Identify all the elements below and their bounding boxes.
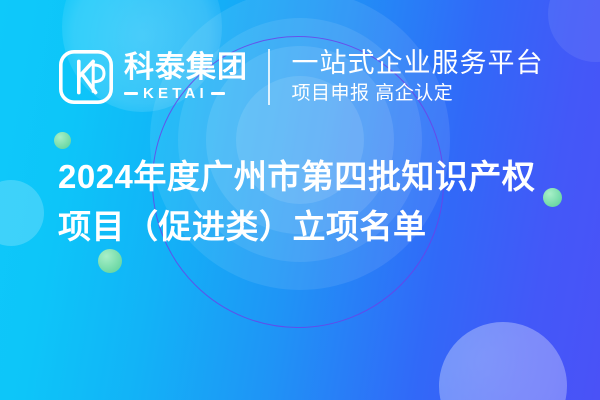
logo-cn-name: 科泰集团 — [124, 53, 248, 84]
ketai-monogram-logo-icon — [56, 47, 116, 107]
banner-header: 科泰集团 KETAI 一站式企业服务平台 项目申报 高企认定 — [56, 42, 544, 112]
left-edge-circle — [0, 180, 44, 246]
tagline-block: 一站式企业服务平台 项目申报 高企认定 — [292, 48, 544, 105]
logo-en-name: KETAI — [143, 86, 208, 101]
green-dot-upper-left — [54, 132, 71, 149]
tagline-sub: 项目申报 高企认定 — [292, 83, 544, 106]
promo-banner: 科泰集团 KETAI 一站式企业服务平台 项目申报 高企认定 2024年度广州市… — [0, 0, 600, 400]
page-title: 2024年度广州市第四批知识产权项目（促进类）立项名单 — [58, 152, 558, 252]
logo-wordmark: 科泰集团 KETAI — [124, 53, 248, 102]
logo-en-row: KETAI — [124, 86, 248, 101]
tagline-main: 一站式企业服务平台 — [292, 48, 544, 78]
logo-rule-left-icon — [124, 92, 138, 95]
header-divider — [268, 49, 270, 105]
logo-rule-right-icon — [211, 92, 225, 95]
green-dot-lower-left — [98, 249, 122, 273]
bottom-right-circle — [439, 322, 567, 400]
top-right-circle — [548, 0, 600, 62]
